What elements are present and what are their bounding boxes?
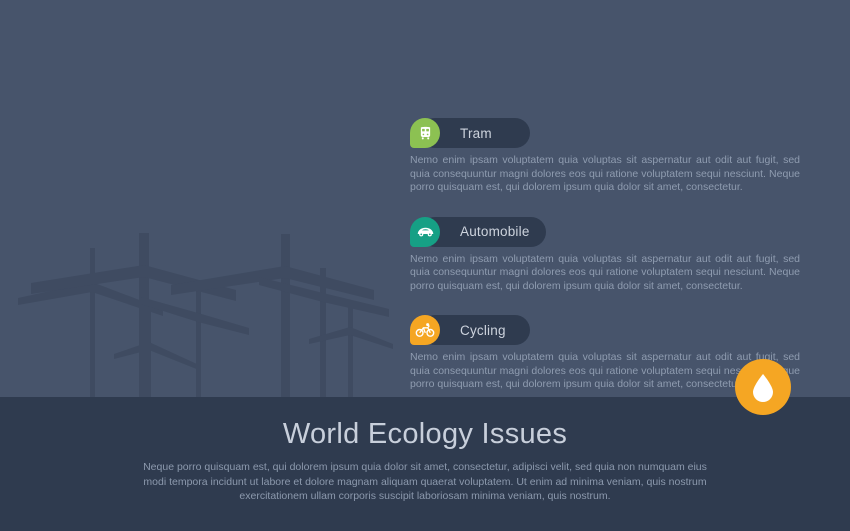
bicycle-icon[interactable] [410,315,440,345]
feature-list: Tram Nemo enim ipsam voluptatem quia vol… [410,118,810,392]
pill-label-tram: Tram [460,126,492,141]
feature-item-tram: Tram Nemo enim ipsam voluptatem quia vol… [410,118,810,195]
feature-text-tram: Nemo enim ipsam voluptatem quia voluptas… [410,154,800,195]
feature-text-automobile: Nemo enim ipsam voluptatem quia voluptas… [410,253,800,294]
page-title: World Ecology Issues [283,418,567,451]
pill-row-tram: Tram [410,118,810,148]
pill-label-automobile: Automobile [460,224,530,239]
pill-label-cycling: Cycling [460,323,506,338]
water-droplet-icon[interactable] [735,359,791,415]
pill-row-automobile: Automobile [410,217,810,247]
tram-icon[interactable] [410,118,440,148]
slide-root: Tram Nemo enim ipsam voluptatem quia vol… [0,0,850,531]
feature-item-automobile: Automobile Nemo enim ipsam voluptatem qu… [410,217,810,294]
footer-content: World Ecology Issues Neque porro quisqua… [0,397,850,531]
car-icon[interactable] [410,217,440,247]
pill-row-cycling: Cycling [410,315,810,345]
footer-paragraph: Neque porro quisquam est, qui dolorem ip… [140,460,710,504]
